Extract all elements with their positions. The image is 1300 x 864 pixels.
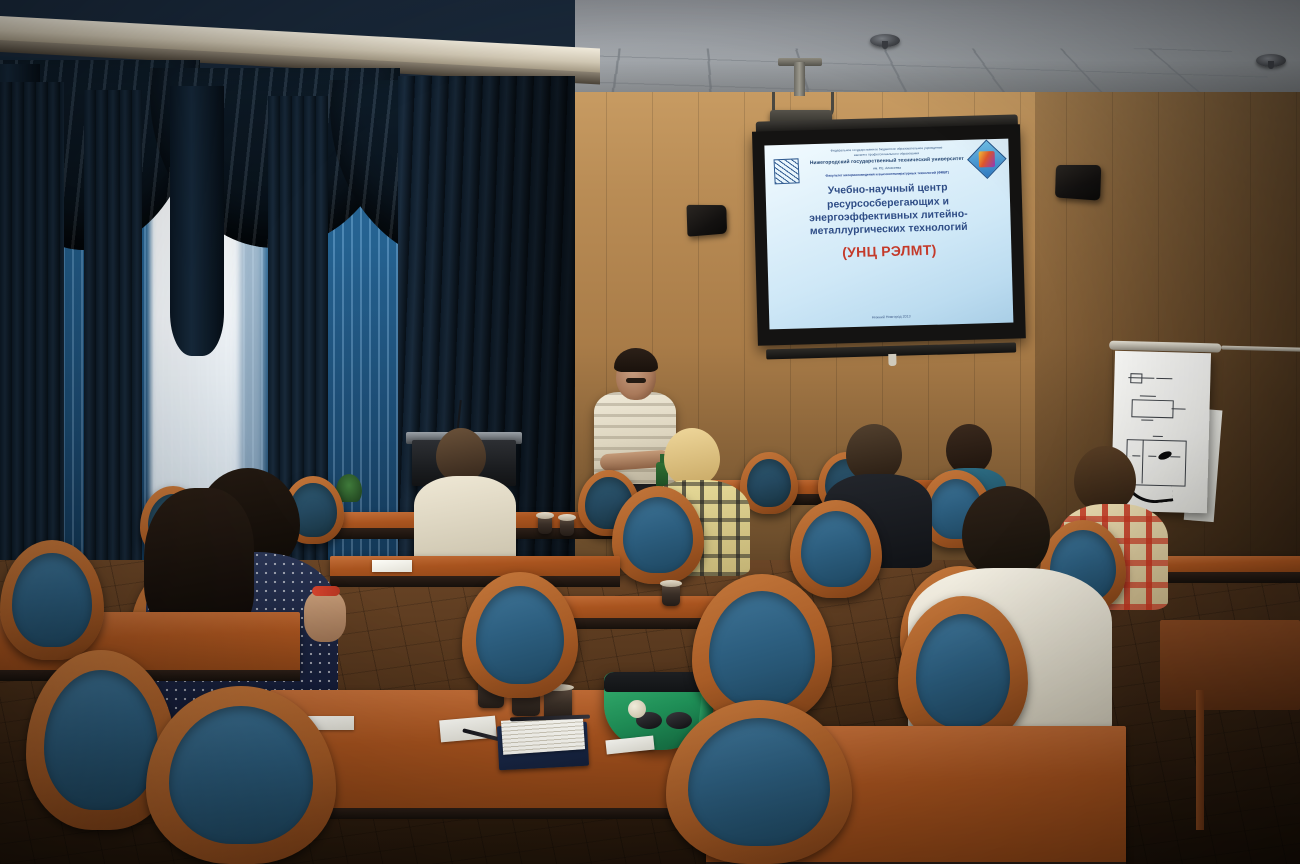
desk-right-side [1160, 620, 1300, 710]
projection-screen: Федеральное государственное бюджетное об… [752, 120, 1026, 355]
coffee-cup [662, 584, 680, 606]
presentation-slide: Федеральное государственное бюджетное об… [764, 139, 1013, 330]
curtain-panel [84, 90, 142, 590]
audience-head [962, 486, 1050, 578]
chair-front-right[interactable] [898, 596, 1028, 746]
coffee-cup [560, 518, 574, 536]
chair-foreground[interactable] [146, 686, 336, 864]
nstu-shield-logo-icon [774, 158, 800, 184]
audience-hands [304, 590, 346, 642]
sprinkler-icon [1256, 54, 1286, 67]
wall-speaker-right-icon [1055, 165, 1101, 201]
paper-sheet [372, 560, 412, 572]
chair[interactable] [462, 572, 578, 698]
chair-leg [1196, 690, 1204, 830]
slide-title: Учебно-научный центр ресурсосберегающих … [774, 180, 1003, 240]
presenter-mustache [626, 378, 646, 383]
chair[interactable] [0, 540, 104, 660]
small-round-object [628, 700, 646, 718]
chair[interactable] [612, 486, 704, 584]
audience-head [1074, 446, 1136, 512]
sprinkler-icon [870, 34, 900, 47]
wall-speaker-left-icon [686, 205, 727, 237]
screen-frame: Федеральное государственное бюджетное об… [752, 124, 1026, 345]
audience-head [436, 428, 486, 482]
slide-footer: Нижний Новгород 2013 [769, 312, 1013, 323]
screen-pull-handle[interactable] [888, 354, 896, 366]
chair-foreground-right[interactable] [666, 700, 852, 864]
lecture-hall-photo: Федеральное государственное бюджетное об… [0, 0, 1300, 864]
coffee-cup [538, 516, 552, 534]
curtain-drop [170, 86, 224, 356]
curtain-panel [0, 82, 64, 590]
audience-head [946, 424, 992, 474]
projector-mount-pole [794, 62, 805, 96]
audience-torso [414, 476, 516, 568]
slide-abbreviation: (УНЦ РЭЛМТ) [775, 239, 1003, 261]
screen-surface: Федеральное государственное бюджетное об… [764, 139, 1013, 330]
audience-head [664, 428, 720, 486]
nail-polish [312, 586, 340, 596]
